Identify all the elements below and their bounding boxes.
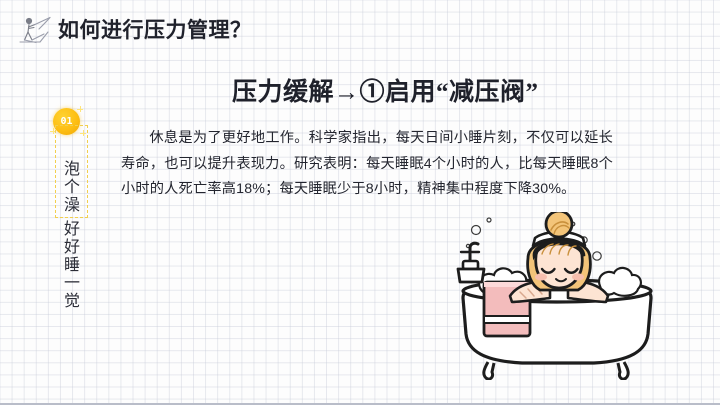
sidebar-vertical-label-top: 泡个澡 [61,160,77,214]
body-paragraph: 休息是为了更好地工作。科学家指出，每天日间小睡片刻，不仅可以延长寿命，也可以提升… [121,126,613,203]
person-sketch-icon [16,12,60,50]
sidebar-vertical-label-bottom: 好好睡一觉 [61,220,77,310]
slide-header: 如何进行压力管理？ [0,8,720,54]
blush-right [572,273,584,280]
faucet [458,243,484,282]
main-heading: 压力缓解→①启用“减压阀” [232,76,539,110]
blush-left [535,273,547,280]
page-title: 如何进行压力管理？ [58,12,252,48]
sparkle-icon [77,106,83,112]
hair-bun [546,212,572,237]
woman-relaxing-in-bathtub-illustration [432,212,690,380]
slide-canvas: 如何进行压力管理？ 01 泡个澡 好好睡一觉 压力缓解→①启用“减压阀” 休息是… [0,0,720,405]
sidebar-section-marker: 01 泡个澡 好好睡一觉 [44,108,96,308]
